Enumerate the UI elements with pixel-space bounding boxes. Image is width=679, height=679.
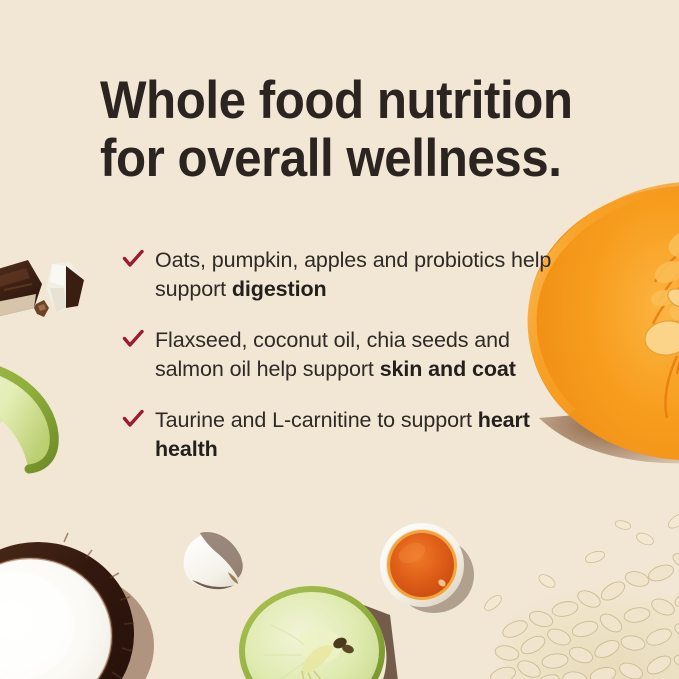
list-item: Oats, pumpkin, apples and probiotics hel… xyxy=(122,246,582,304)
page-title: Whole food nutrition for overall wellnes… xyxy=(100,72,565,188)
check-icon xyxy=(122,329,144,351)
list-item-label: Flaxseed, coconut oil, chia seeds and sa… xyxy=(155,328,516,381)
apple-slice-image xyxy=(0,358,70,470)
check-icon xyxy=(122,249,144,271)
list-item-label: Oats, pumpkin, apples and probiotics hel… xyxy=(155,248,551,301)
headline-line-1: Whole food nutrition xyxy=(100,72,565,130)
list-item-label: Taurine and L-carnitine to support heart… xyxy=(155,408,530,461)
promo-poster: Whole food nutrition for overall wellnes… xyxy=(0,0,679,679)
coconut-half-image xyxy=(0,516,153,679)
list-item: Taurine and L-carnitine to support heart… xyxy=(122,406,582,464)
benefit-list: Oats, pumpkin, apples and probiotics hel… xyxy=(122,246,582,464)
list-item-text-emphasis: digestion xyxy=(232,277,327,301)
list-item-text-emphasis: skin and coat xyxy=(380,357,516,381)
list-item: Flaxseed, coconut oil, chia seeds and sa… xyxy=(122,326,582,384)
coconut-shell-chunk-image xyxy=(44,262,86,314)
headline-line-2: for overall wellness. xyxy=(100,130,565,188)
coconut-shell-fleck-image xyxy=(34,300,50,318)
oats-pile-image xyxy=(485,503,679,679)
list-item-text-regular: Oats, pumpkin, apples and probiotics hel… xyxy=(155,248,551,301)
check-icon xyxy=(122,409,144,431)
list-item-text-regular: Taurine and L-carnitine to support xyxy=(155,408,478,432)
apple-half-image xyxy=(240,585,398,679)
